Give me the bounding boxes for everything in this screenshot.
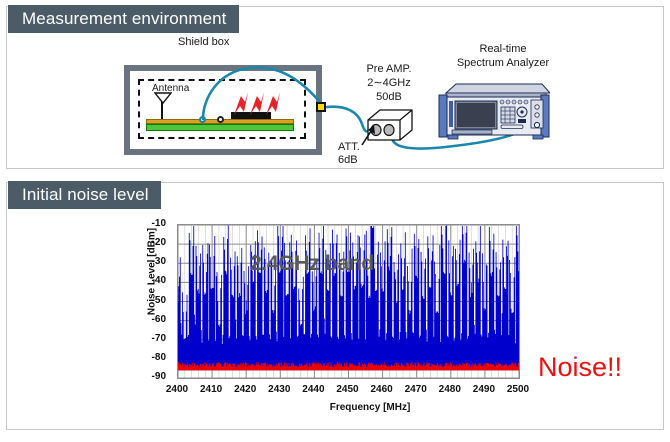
chart-x-tick: 2500	[498, 385, 538, 395]
chart-y-tick: -10	[126, 219, 166, 229]
shield-box-label: Shield box	[178, 36, 229, 49]
chart-x-axis-label: Frequency [MHz]	[280, 402, 460, 413]
pcb-connector-right	[217, 116, 224, 123]
section-header-noise: Initial noise level	[8, 181, 161, 209]
chart-y-tick: -60	[126, 315, 166, 325]
chart-trace-svg	[178, 225, 519, 378]
preamp-label: Pre AMP. 2∼4GHz 50dB	[358, 62, 420, 104]
attenuator-label-line2: 6dB	[338, 154, 358, 166]
pcb-connector-left	[199, 116, 206, 123]
chart-y-tick: -40	[126, 276, 166, 286]
chart-band-annotation: 2.4GHz band	[250, 252, 374, 276]
analyzer-label-line2: Spectrum Analyzer	[457, 57, 549, 69]
attenuator-label: ATT. 6dB	[338, 141, 378, 167]
chart-plot-area: 2.4GHz band	[177, 224, 520, 379]
preamp-label-line1: Pre AMP.	[366, 63, 411, 75]
analyzer-label-line1: Real-time	[479, 43, 526, 55]
chart-y-tick: -20	[126, 238, 166, 248]
section-header-measurement: Measurement environment	[8, 5, 239, 33]
noise-emission-icon	[232, 90, 288, 118]
noise-callout-text: Noise!!	[538, 352, 622, 383]
preamp-label-line2: 2∼4GHz	[367, 77, 410, 89]
chart-y-tick: -70	[126, 334, 166, 344]
chart-y-tick: -30	[126, 257, 166, 267]
chart-y-tick: -80	[126, 353, 166, 363]
spectrum-analyzer-label: Real-time Spectrum Analyzer	[442, 42, 564, 70]
chart-y-tick: -50	[126, 296, 166, 306]
noise-spectrum-chart: Noise Level [dBm] Frequency [MHz] -10-20…	[140, 218, 550, 418]
preamp-label-line3: 50dB	[376, 91, 402, 103]
pcb-substrate	[146, 124, 294, 131]
attenuator-label-line1: ATT.	[338, 141, 360, 153]
bulkhead-connector-icon	[316, 102, 326, 112]
spectrum-analyzer-icon	[438, 81, 550, 143]
chart-y-tick: -90	[126, 372, 166, 382]
antenna-dipole-icon	[154, 92, 172, 104]
